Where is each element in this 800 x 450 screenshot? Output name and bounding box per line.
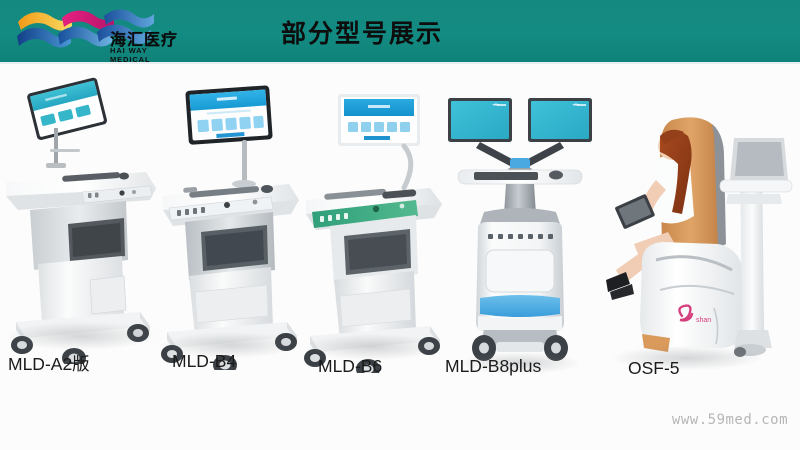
company-logo: 海汇医疗 HAI WAY MEDICAL	[14, 6, 190, 58]
device-illustration-mld-b8plus	[440, 94, 605, 374]
device-illustration-mld-a2	[0, 64, 165, 364]
product-osf-5[interactable]: shan OSF-5	[598, 94, 798, 379]
product-mld-b6[interactable]: MLD-B6	[300, 88, 450, 373]
left-monitor	[448, 98, 512, 142]
product-label-mld-b4: MLD-B4	[172, 351, 236, 372]
site-watermark: www.59med.com	[672, 412, 788, 428]
product-mld-b8plus[interactable]: MLD-B8plus	[440, 94, 605, 374]
header-bar: 海汇医疗 HAI WAY MEDICAL 部分型号展示	[0, 0, 800, 62]
device-illustration-mld-b6	[300, 88, 450, 373]
product-label-mld-b8plus: MLD-B8plus	[445, 356, 541, 377]
page-title: 部分型号展示	[281, 14, 443, 50]
right-monitor	[528, 98, 592, 142]
product-label-mld-a2: MLD-A2版	[8, 351, 90, 376]
slide-canvas: 海汇医疗 HAI WAY MEDICAL 部分型号展示	[0, 0, 800, 450]
device-illustration-osf-5: shan	[598, 94, 798, 379]
device-illustration-mld-b4	[155, 80, 305, 370]
product-gallery: MLD-A2版	[0, 64, 800, 450]
product-label-mld-b6: MLD-B6	[318, 356, 382, 377]
product-mld-b4[interactable]: MLD-B4	[155, 80, 305, 370]
product-label-osf-5: OSF-5	[628, 358, 680, 379]
svg-text:shan: shan	[696, 317, 711, 324]
product-mld-a2[interactable]: MLD-A2版	[0, 64, 165, 364]
